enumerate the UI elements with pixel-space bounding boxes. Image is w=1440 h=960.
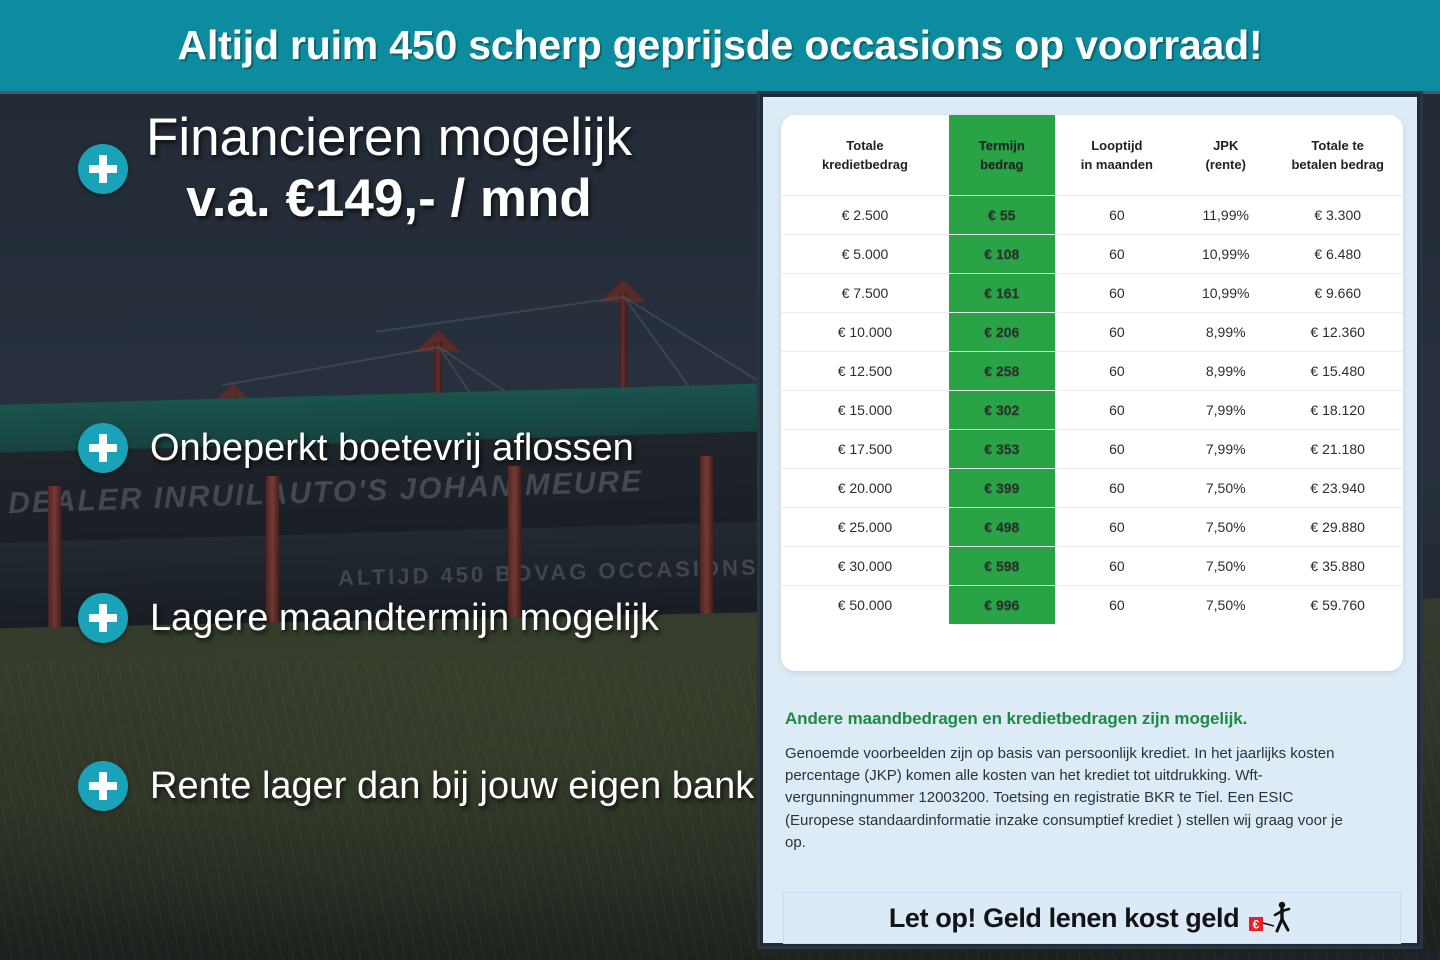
left-content: Financieren mogelijk v.a. €149,- / mnd O… bbox=[0, 94, 760, 960]
cell-termijn: € 206 bbox=[949, 312, 1055, 351]
cell-termijn: € 302 bbox=[949, 390, 1055, 429]
cell-looptijd: 60 bbox=[1055, 390, 1179, 429]
plus-icon bbox=[78, 423, 128, 473]
cell-jkp: 7,99% bbox=[1179, 429, 1272, 468]
cell-looptijd: 60 bbox=[1055, 234, 1179, 273]
header-line-2: in maanden bbox=[1059, 156, 1175, 175]
headline-text: Financieren mogelijk v.a. €149,- / mnd bbox=[146, 110, 632, 228]
notes-block: Andere maandbedragen en kredietbedragen … bbox=[785, 709, 1385, 854]
cell-totaal: € 15.480 bbox=[1272, 351, 1403, 390]
cell-jkp: 8,99% bbox=[1179, 351, 1272, 390]
cell-krediet: € 15.000 bbox=[781, 390, 949, 429]
advertisement-banner: Altijd ruim 450 scherp geprijsde occasio… bbox=[0, 0, 1440, 960]
cell-krediet: € 5.000 bbox=[781, 234, 949, 273]
cell-krediet: € 7.500 bbox=[781, 273, 949, 312]
cell-looptijd: 60 bbox=[1055, 468, 1179, 507]
feature-label: Rente lager dan bij jouw eigen bank bbox=[150, 767, 754, 805]
table-row: € 30.000€ 598607,50%€ 35.880 bbox=[781, 546, 1403, 585]
rate-table-body: € 2.500€ 556011,99%€ 3.300€ 5.000€ 10860… bbox=[781, 195, 1403, 624]
cell-totaal: € 35.880 bbox=[1272, 546, 1403, 585]
table-row: € 50.000€ 996607,50%€ 59.760 bbox=[781, 585, 1403, 624]
header-line-1: Looptijd bbox=[1059, 137, 1175, 156]
header-line-1: Totale te bbox=[1276, 137, 1399, 156]
headline-line-1: Financieren mogelijk bbox=[146, 110, 632, 165]
cell-totaal: € 21.180 bbox=[1272, 429, 1403, 468]
col-header-krediet: Totale kredietbedrag bbox=[781, 115, 949, 195]
header-line-2: kredietbedrag bbox=[785, 156, 945, 175]
table-row: € 17.500€ 353607,99%€ 21.180 bbox=[781, 429, 1403, 468]
cell-krediet: € 2.500 bbox=[781, 195, 949, 234]
cell-jkp: 7,50% bbox=[1179, 585, 1272, 624]
legal-warning-text: Let op! Geld lenen kost geld bbox=[889, 903, 1239, 934]
col-header-jkp: JPK (rente) bbox=[1179, 115, 1272, 195]
plus-icon bbox=[78, 593, 128, 643]
cell-totaal: € 9.660 bbox=[1272, 273, 1403, 312]
cell-krediet: € 50.000 bbox=[781, 585, 949, 624]
headline-block: Financieren mogelijk v.a. €149,- / mnd bbox=[78, 110, 632, 228]
header-line-2: betalen bedrag bbox=[1276, 156, 1399, 175]
table-header-row: Totale kredietbedrag Termijn bedrag Loop… bbox=[781, 115, 1403, 195]
table-row: € 2.500€ 556011,99%€ 3.300 bbox=[781, 195, 1403, 234]
cell-totaal: € 23.940 bbox=[1272, 468, 1403, 507]
table-row: € 12.500€ 258608,99%€ 15.480 bbox=[781, 351, 1403, 390]
cell-krediet: € 10.000 bbox=[781, 312, 949, 351]
cell-totaal: € 3.300 bbox=[1272, 195, 1403, 234]
cell-krediet: € 30.000 bbox=[781, 546, 949, 585]
header-line-2: bedrag bbox=[953, 156, 1051, 175]
col-header-totaal: Totale te betalen bedrag bbox=[1272, 115, 1403, 195]
cell-termijn: € 498 bbox=[949, 507, 1055, 546]
table-row: € 15.000€ 302607,99%€ 18.120 bbox=[781, 390, 1403, 429]
cell-krediet: € 17.500 bbox=[781, 429, 949, 468]
col-header-termijn: Termijn bedrag bbox=[949, 115, 1055, 195]
table-row: € 7.500€ 1616010,99%€ 9.660 bbox=[781, 273, 1403, 312]
cell-looptijd: 60 bbox=[1055, 273, 1179, 312]
cell-totaal: € 18.120 bbox=[1272, 390, 1403, 429]
header-line-2: (rente) bbox=[1183, 156, 1268, 175]
table-row: € 20.000€ 399607,50%€ 23.940 bbox=[781, 468, 1403, 507]
top-banner: Altijd ruim 450 scherp geprijsde occasio… bbox=[0, 0, 1440, 91]
table-row: € 25.000€ 498607,50%€ 29.880 bbox=[781, 507, 1403, 546]
cell-termijn: € 161 bbox=[949, 273, 1055, 312]
financing-panel: Totale kredietbedrag Termijn bedrag Loop… bbox=[760, 94, 1420, 946]
cell-termijn: € 996 bbox=[949, 585, 1055, 624]
cell-jkp: 7,50% bbox=[1179, 546, 1272, 585]
cell-jkp: 10,99% bbox=[1179, 273, 1272, 312]
rate-table-card: Totale kredietbedrag Termijn bedrag Loop… bbox=[781, 115, 1403, 671]
header-line-1: JPK bbox=[1183, 137, 1268, 156]
notes-title: Andere maandbedragen en kredietbedragen … bbox=[785, 709, 1385, 729]
cell-totaal: € 29.880 bbox=[1272, 507, 1403, 546]
legal-warning-bar: Let op! Geld lenen kost geld € bbox=[783, 892, 1401, 944]
cell-totaal: € 6.480 bbox=[1272, 234, 1403, 273]
notes-body: Genoemde voorbeelden zijn op basis van p… bbox=[785, 743, 1355, 854]
rate-table: Totale kredietbedrag Termijn bedrag Loop… bbox=[781, 115, 1403, 624]
cell-krediet: € 25.000 bbox=[781, 507, 949, 546]
cell-jkp: 8,99% bbox=[1179, 312, 1272, 351]
top-banner-text: Altijd ruim 450 scherp geprijsde occasio… bbox=[178, 22, 1263, 69]
cell-totaal: € 59.760 bbox=[1272, 585, 1403, 624]
svg-text:€: € bbox=[1253, 918, 1260, 932]
cell-jkp: 11,99% bbox=[1179, 195, 1272, 234]
plus-icon bbox=[78, 144, 128, 194]
col-header-looptijd: Looptijd in maanden bbox=[1055, 115, 1179, 195]
cell-termijn: € 108 bbox=[949, 234, 1055, 273]
cell-jkp: 7,50% bbox=[1179, 507, 1272, 546]
table-row: € 10.000€ 206608,99%€ 12.360 bbox=[781, 312, 1403, 351]
cell-looptijd: 60 bbox=[1055, 507, 1179, 546]
feature-item-2: Lagere maandtermijn mogelijk bbox=[78, 593, 659, 643]
cell-looptijd: 60 bbox=[1055, 195, 1179, 234]
walking-figure-dragging-euro-block-icon: € bbox=[1249, 901, 1295, 935]
feature-label: Lagere maandtermijn mogelijk bbox=[150, 599, 659, 637]
cell-termijn: € 55 bbox=[949, 195, 1055, 234]
cell-looptijd: 60 bbox=[1055, 312, 1179, 351]
plus-icon bbox=[78, 761, 128, 811]
cell-termijn: € 399 bbox=[949, 468, 1055, 507]
header-line-1: Termijn bbox=[953, 137, 1051, 156]
feature-label: Onbeperkt boetevrij aflossen bbox=[150, 429, 634, 467]
cell-looptijd: 60 bbox=[1055, 351, 1179, 390]
cell-krediet: € 12.500 bbox=[781, 351, 949, 390]
cell-krediet: € 20.000 bbox=[781, 468, 949, 507]
cell-looptijd: 60 bbox=[1055, 585, 1179, 624]
cell-looptijd: 60 bbox=[1055, 429, 1179, 468]
cell-totaal: € 12.360 bbox=[1272, 312, 1403, 351]
cell-looptijd: 60 bbox=[1055, 546, 1179, 585]
header-line-1: Totale bbox=[785, 137, 945, 156]
cell-jkp: 7,50% bbox=[1179, 468, 1272, 507]
cell-jkp: 10,99% bbox=[1179, 234, 1272, 273]
cell-jkp: 7,99% bbox=[1179, 390, 1272, 429]
feature-item-1: Onbeperkt boetevrij aflossen bbox=[78, 423, 634, 473]
feature-item-3: Rente lager dan bij jouw eigen bank bbox=[78, 761, 754, 811]
cell-termijn: € 598 bbox=[949, 546, 1055, 585]
cell-termijn: € 353 bbox=[949, 429, 1055, 468]
cell-termijn: € 258 bbox=[949, 351, 1055, 390]
table-row: € 5.000€ 1086010,99%€ 6.480 bbox=[781, 234, 1403, 273]
headline-line-2: v.a. €149,- / mnd bbox=[146, 169, 632, 228]
